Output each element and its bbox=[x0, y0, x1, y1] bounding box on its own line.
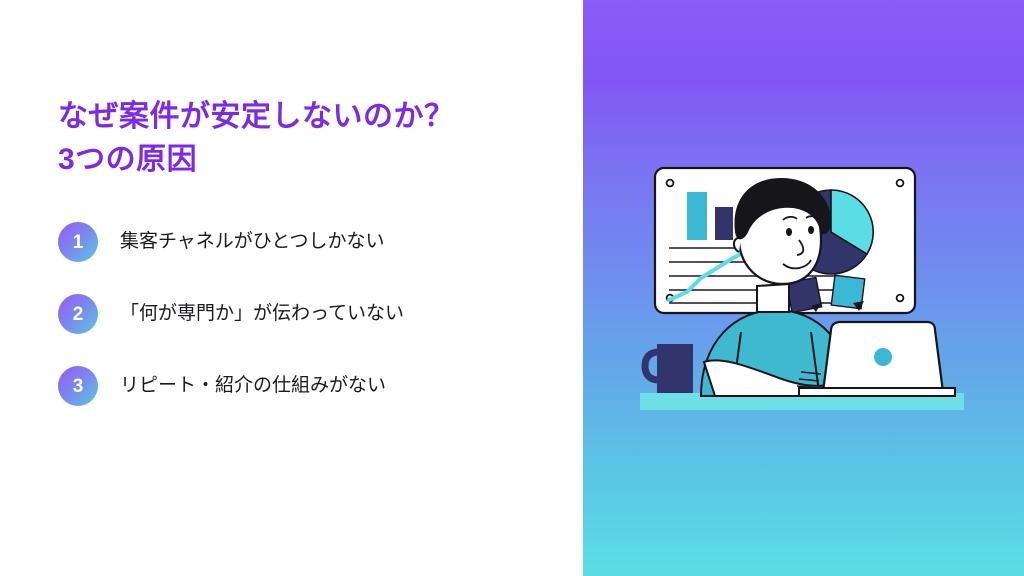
number-badge-1: 1 bbox=[58, 222, 98, 262]
title-line-2: 3つの原因 bbox=[58, 139, 558, 182]
page-title: なぜ案件が安定しないのか？ 3つの原因 bbox=[58, 96, 558, 181]
slide-root: なぜ案件が安定しないのか？ 3つの原因 1 集客チャネルがひとつしかない 2 「… bbox=[0, 0, 1024, 576]
list-item-label: リピート・紹介の仕組みがない bbox=[120, 374, 386, 399]
title-line-1: なぜ案件が安定しないのか？ bbox=[58, 96, 558, 139]
illustration-person-at-desk bbox=[583, 0, 1024, 576]
list-item: 3 リピート・紹介の仕組みがない bbox=[58, 362, 568, 410]
list-item: 2 「何が専門か」が伝わっていない bbox=[58, 290, 568, 338]
mug-icon bbox=[645, 344, 693, 393]
sticky-note-cyan-icon bbox=[831, 275, 864, 311]
number-badge-2: 2 bbox=[58, 294, 98, 334]
person-eye bbox=[808, 226, 814, 234]
list-item-label: 集客チャネルがひとつしかない bbox=[120, 230, 384, 255]
left-content-panel: なぜ案件が安定しないのか？ 3つの原因 1 集客チャネルがひとつしかない 2 「… bbox=[0, 0, 583, 576]
number-badge-3: 3 bbox=[58, 366, 98, 406]
list-item-label: 「何が専門か」が伝わっていない bbox=[120, 302, 404, 327]
list-item: 1 集客チャネルがひとつしかない bbox=[58, 218, 568, 266]
reasons-list: 1 集客チャネルがひとつしかない 2 「何が専門か」が伝わっていない 3 リピー… bbox=[58, 218, 568, 434]
right-gradient-panel bbox=[583, 0, 1024, 576]
person-eye bbox=[786, 228, 792, 236]
laptop-logo-icon bbox=[874, 348, 892, 366]
person-neck bbox=[757, 284, 789, 312]
